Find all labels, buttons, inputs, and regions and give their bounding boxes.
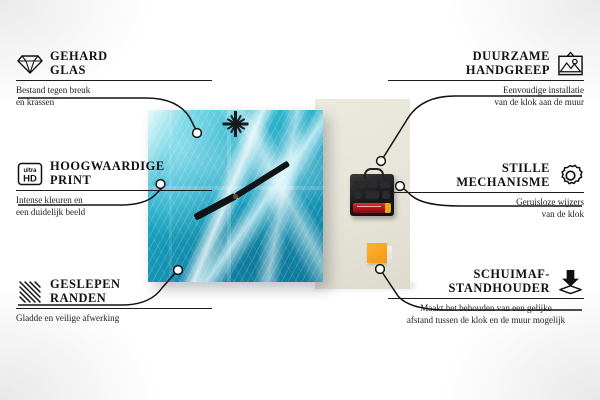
feature-desc-line2: van de klok <box>542 209 584 219</box>
feature-desc-line2: afstand tussen de klok en de muur mogeli… <box>407 315 565 325</box>
feature-divider <box>388 192 584 193</box>
feature-header: ultra HD HOOGWAARDIGE PRINT <box>16 160 212 187</box>
feature-desc-line2: en krassen <box>16 97 54 107</box>
feature-title-line2: MECHANISME <box>456 175 550 189</box>
picture-frame-icon <box>557 50 584 77</box>
feature-title-line1: GEHARD <box>50 49 108 63</box>
gear-icon <box>557 162 584 189</box>
feature-title-line1: STILLE <box>502 161 550 175</box>
feature-title-line2: STANDHOUDER <box>448 281 550 295</box>
feature-desc-line1: Gladde en veilige afwerking <box>16 313 119 323</box>
feature-desc-line2: van de klok aan de muur <box>494 97 584 107</box>
feature-stille-mechanisme: STILLE MECHANISME Geruisloze wijzers van… <box>388 162 584 220</box>
feature-divider <box>388 80 584 81</box>
feature-divider <box>16 190 212 191</box>
connector-dot-randen <box>174 266 183 275</box>
feature-desc-line2: een duidelijk beeld <box>16 207 85 217</box>
feature-title: SCHUIMAF- STANDHOUDER <box>448 268 550 295</box>
feature-title-line1: SCHUIMAF- <box>473 267 550 281</box>
feature-divider <box>388 298 584 299</box>
feature-title-line2: RANDEN <box>50 291 106 305</box>
feature-description: Eenvoudige installatie van de klok aan d… <box>388 85 584 108</box>
feature-gehard-glas: GEHARD GLAS Bestand tegen breuk en krass… <box>16 50 212 108</box>
connector-dot-gehard-glas <box>193 129 202 138</box>
feature-title-line2: HANDGREEP <box>466 63 550 77</box>
feature-description: Gladde en veilige afwerking <box>16 313 212 324</box>
feature-title-line2: PRINT <box>50 173 91 187</box>
feature-title: DUURZAME HANDGREEP <box>466 50 550 77</box>
feature-desc-line1: Geruisloze wijzers <box>516 197 584 207</box>
feature-title: HOOGWAARDIGE PRINT <box>50 160 165 187</box>
svg-text:HD: HD <box>23 173 37 184</box>
press-down-icon <box>557 268 584 295</box>
feature-header: GESLEPEN RANDEN <box>16 278 212 305</box>
feature-desc-line1: Eenvoudige installatie <box>503 85 584 95</box>
connector-dot-handgreep <box>377 157 386 166</box>
feature-title: STILLE MECHANISME <box>456 162 550 189</box>
feature-title-line1: GESLEPEN <box>50 277 121 291</box>
feature-description: Geruisloze wijzers van de klok <box>388 197 584 220</box>
infographic-canvas: GEHARD GLAS Bestand tegen breuk en krass… <box>0 0 600 400</box>
feature-header: SCHUIMAF- STANDHOUDER <box>388 268 584 295</box>
feature-divider <box>16 308 212 309</box>
feature-description: Intense kleuren en een duidelijk beeld <box>16 195 212 218</box>
feature-desc-line1: Bestand tegen breuk <box>16 85 90 95</box>
feature-divider <box>16 80 212 81</box>
feature-duurzame-handgreep: DUURZAME HANDGREEP Eenvoudige installati… <box>388 50 584 108</box>
feature-desc-line1: Intense kleuren en <box>16 195 83 205</box>
feature-title-line1: HOOGWAARDIGE <box>50 159 165 173</box>
feature-header: DUURZAME HANDGREEP <box>388 50 584 77</box>
feature-description: Maakt het behouden van een gelijke afsta… <box>388 303 584 326</box>
feature-schuimaf-standhouder: SCHUIMAF- STANDHOUDER Maakt het behouden… <box>388 268 584 326</box>
feature-desc-line1: Maakt het behouden van een gelijke <box>420 303 552 313</box>
feature-header: GEHARD GLAS <box>16 50 212 77</box>
ultra-hd-icon: ultra HD <box>16 160 43 187</box>
bevelled-edge-icon <box>16 278 43 305</box>
feature-title: GESLEPEN RANDEN <box>50 278 121 305</box>
diamond-icon <box>16 50 43 77</box>
connector-dot-schuim <box>376 265 385 274</box>
feature-title: GEHARD GLAS <box>50 50 108 77</box>
feature-geslepen-randen: GESLEPEN RANDEN Gladde en veilige afwerk… <box>16 278 212 325</box>
feature-header: STILLE MECHANISME <box>388 162 584 189</box>
feature-description: Bestand tegen breuk en krassen <box>16 85 212 108</box>
feature-title-line1: DUURZAME <box>473 49 550 63</box>
feature-title-line2: GLAS <box>50 63 86 77</box>
feature-hoogwaardige-print: ultra HD HOOGWAARDIGE PRINT Intense kleu… <box>16 160 212 218</box>
